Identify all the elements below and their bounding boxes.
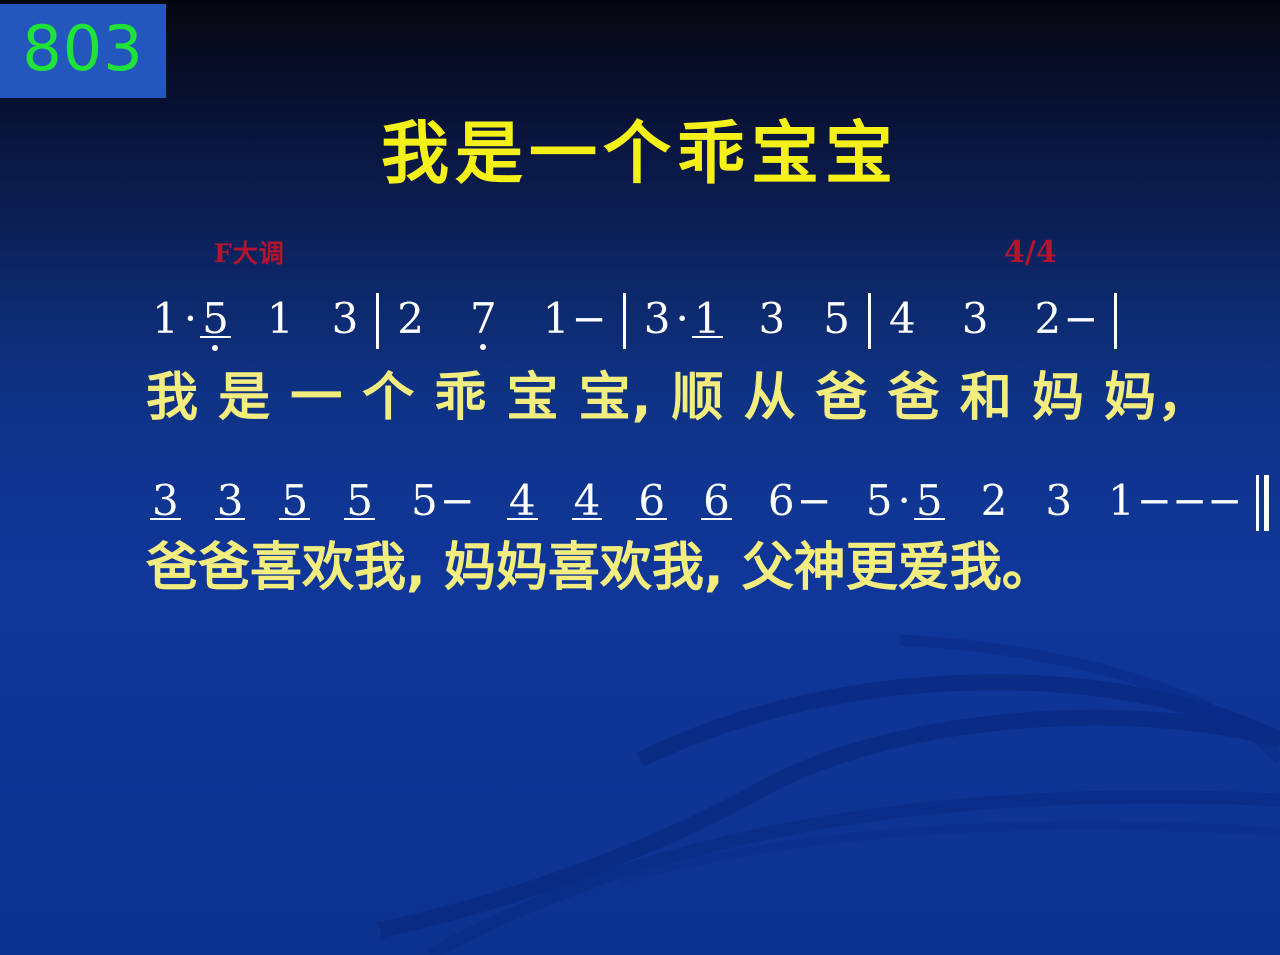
note: 3 bbox=[642, 296, 673, 342]
note: 1 bbox=[541, 296, 572, 342]
page-number: 803 bbox=[22, 18, 143, 84]
barline bbox=[868, 293, 871, 349]
measure: 1 −−− bbox=[1106, 478, 1242, 524]
note: 3 bbox=[1043, 478, 1074, 524]
song-title: 我是一个乖宝宝 bbox=[0, 116, 1280, 194]
note: 3 bbox=[757, 296, 788, 342]
note: 5 bbox=[821, 296, 852, 342]
page-number-badge: 803 bbox=[0, 4, 166, 98]
note: 5 bbox=[409, 478, 440, 524]
note: 1 bbox=[150, 296, 181, 342]
augmentation-dot: · bbox=[672, 296, 691, 342]
key-signature: F大调 bbox=[214, 240, 285, 268]
lyrics-line-1: 我 是 一 个 乖 宝 宝, 顺 从 爸 爸 和 妈 妈， bbox=[146, 368, 1176, 428]
note: 3 bbox=[150, 478, 181, 524]
measure: 4 4 6 6 6 − bbox=[507, 478, 832, 524]
note: 6 bbox=[766, 478, 797, 524]
final-double-barline bbox=[1256, 475, 1269, 531]
note: 2 bbox=[1032, 296, 1063, 342]
duration-dash: − bbox=[1063, 296, 1098, 342]
note: 1 bbox=[1106, 478, 1137, 524]
note: 4 bbox=[507, 478, 538, 524]
augmentation-dot: · bbox=[894, 478, 913, 524]
note: 4 bbox=[572, 478, 603, 524]
lyrics-line-2: 爸爸喜欢我, 妈妈喜欢我, 父神更爱我。 bbox=[146, 538, 1176, 598]
note: 7 bbox=[468, 296, 499, 342]
note: 3 bbox=[960, 296, 991, 342]
measure: 1 · 5 1 3 bbox=[150, 296, 360, 342]
notation-line-1: 1 · 5 1 3 2 7 1 − 3 · 1 3 5 bbox=[150, 296, 1160, 358]
duration-dash: − bbox=[797, 478, 832, 524]
measure: 3 · 1 3 5 bbox=[642, 296, 852, 342]
note: 2 bbox=[979, 478, 1010, 524]
augmentation-dot: · bbox=[181, 296, 200, 342]
duration-dash: − bbox=[572, 296, 607, 342]
note: 6 bbox=[636, 478, 667, 524]
note: 3 bbox=[215, 478, 246, 524]
song-slide: 803 我是一个乖宝宝 F大调 4/4 1 · 5 1 3 2 7 1 − bbox=[0, 0, 1280, 955]
note: 6 bbox=[701, 478, 732, 524]
measure: 4 3 2 − bbox=[887, 296, 1098, 342]
note: 5 bbox=[864, 478, 895, 524]
note: 5 bbox=[344, 478, 375, 524]
barline bbox=[623, 293, 626, 349]
note: 1 bbox=[692, 296, 723, 342]
barline bbox=[1114, 293, 1117, 349]
duration-dash: −−− bbox=[1137, 478, 1243, 524]
measure: 2 7 1 − bbox=[395, 296, 606, 342]
note: 1 bbox=[265, 296, 296, 342]
note: 2 bbox=[395, 296, 426, 342]
notation-line-2: 3 3 5 5 5 − 4 4 6 6 6 − 5 bbox=[150, 478, 1160, 540]
note: 5 bbox=[200, 296, 231, 342]
note: 5 bbox=[279, 478, 310, 524]
measure: 5 · 5 2 3 bbox=[864, 478, 1074, 524]
measure: 3 3 5 5 5 − bbox=[150, 478, 475, 524]
barline bbox=[376, 293, 379, 349]
duration-dash: − bbox=[440, 478, 475, 524]
note: 4 bbox=[887, 296, 918, 342]
time-signature: 4/4 bbox=[1004, 238, 1057, 268]
note: 3 bbox=[330, 296, 361, 342]
note: 5 bbox=[914, 478, 945, 524]
